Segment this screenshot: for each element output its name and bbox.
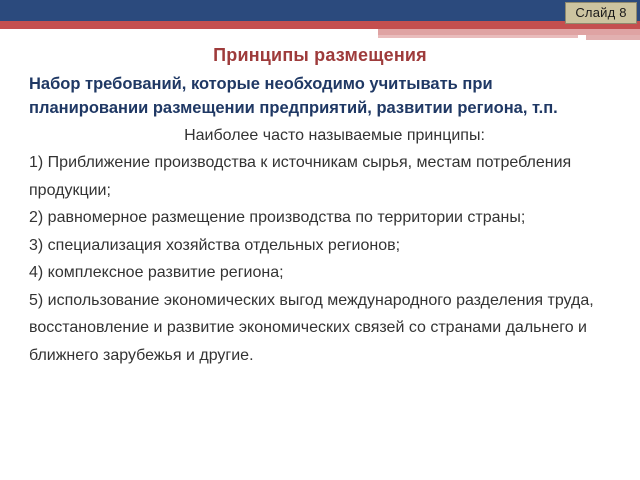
header-white-notch — [0, 29, 378, 40]
header-pink-accent-block — [586, 35, 640, 40]
principles-list: 1) Приближение производства к источникам… — [0, 149, 640, 369]
header-navy-band — [0, 0, 640, 21]
principles-sub-heading: Наиболее часто называемые принципы: — [0, 122, 640, 149]
slide-title: Принципы размещения — [0, 44, 640, 66]
list-item: 1) Приближение производства к источникам… — [29, 149, 630, 204]
header-pink-thin-band — [378, 35, 578, 38]
lead-paragraph: Набор требований, которые необходимо учи… — [0, 72, 640, 120]
list-item: 4) комплексное развитие региона; — [29, 259, 630, 287]
header-red-band — [0, 21, 640, 29]
slide-number-badge: Слайд 8 — [565, 2, 637, 24]
list-item: 5) использование экономических выгод меж… — [29, 287, 630, 370]
list-item: 3) специализация хозяйства отдельных рег… — [29, 232, 630, 260]
slide-canvas: Слайд 8 Принципы размещения Набор требов… — [0, 0, 640, 480]
list-item: 2) равномерное размещение производства п… — [29, 204, 630, 232]
slide-content: Принципы размещения Набор требований, ко… — [0, 44, 640, 369]
